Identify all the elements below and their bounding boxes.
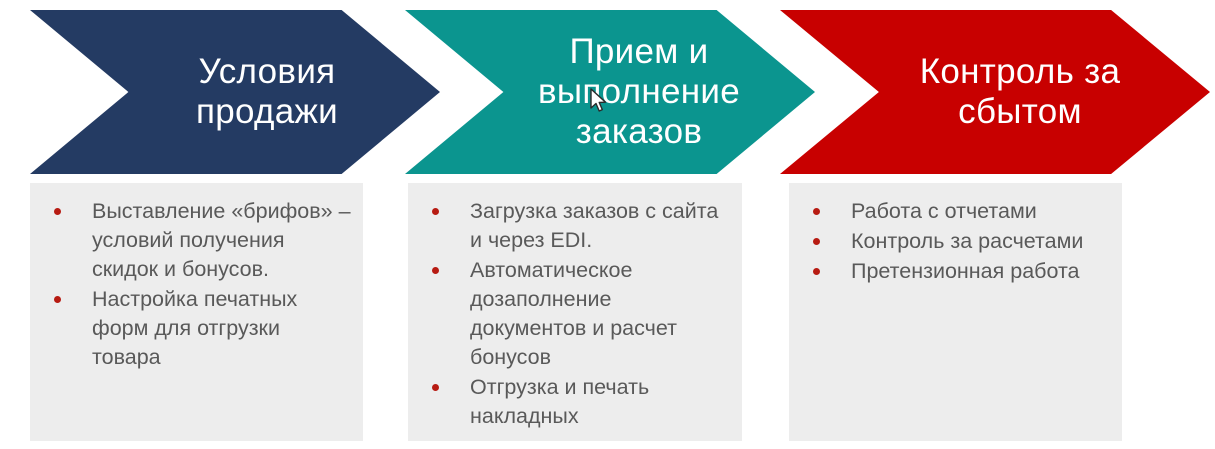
bullet-dot-icon [813, 238, 820, 245]
detail-panel-3: Работа с отчетами Контроль за расчетами … [789, 183, 1122, 441]
bullet-dot-icon [54, 208, 61, 215]
bullet-text: Отгрузка и печать накладных [470, 375, 649, 428]
bullet-text: Претензионная работа [851, 259, 1080, 283]
list-item: Отгрузка и печать накладных [418, 373, 732, 431]
bullet-list-3: Работа с отчетами Контроль за расчетами … [799, 197, 1112, 286]
process-chevron-2[interactable]: Прием и выполнение заказов [405, 10, 815, 174]
chevron-title-1: Условия продажи [132, 52, 338, 132]
detail-panel-1: Выставление «брифов» – условий получения… [30, 183, 363, 441]
list-item: Выставление «брифов» – условий получения… [40, 197, 353, 284]
bullet-list-1: Выставление «брифов» – условий получения… [40, 197, 353, 372]
bullet-dot-icon [432, 208, 439, 215]
bullet-dot-icon [432, 267, 439, 274]
list-item: Претензионная работа [799, 257, 1112, 286]
list-item: Автоматическое дозаполнение документов и… [418, 256, 732, 372]
bullet-dot-icon [432, 384, 439, 391]
process-chevron-3[interactable]: Контроль за сбытом [780, 10, 1210, 174]
process-chevron-1[interactable]: Условия продажи [30, 10, 440, 174]
slide-canvas: Условия продажи Выставление «брифов» – у… [0, 0, 1215, 449]
bullet-text: Контроль за расчетами [851, 229, 1083, 253]
bullet-text: Настройка печатных форм для отгрузки тов… [92, 287, 297, 369]
list-item: Работа с отчетами [799, 197, 1112, 226]
list-item: Настройка печатных форм для отгрузки тов… [40, 285, 353, 372]
bullet-dot-icon [813, 208, 820, 215]
bullet-text: Автоматическое дозаполнение документов и… [470, 258, 677, 369]
bullet-dot-icon [54, 296, 61, 303]
chevron-title-3: Контроль за сбытом [870, 52, 1121, 132]
detail-panel-2: Загрузка заказов с сайта и через EDI. Ав… [408, 183, 742, 441]
bullet-text: Выставление «брифов» – условий получения… [92, 199, 351, 281]
bullet-dot-icon [813, 268, 820, 275]
bullet-text: Работа с отчетами [851, 199, 1037, 223]
list-item: Загрузка заказов с сайта и через EDI. [418, 197, 732, 255]
chevron-title-2: Прием и выполнение заказов [480, 32, 740, 152]
bullet-text: Загрузка заказов с сайта и через EDI. [470, 199, 718, 252]
list-item: Контроль за расчетами [799, 227, 1112, 256]
bullet-list-2: Загрузка заказов с сайта и через EDI. Ав… [418, 197, 732, 431]
